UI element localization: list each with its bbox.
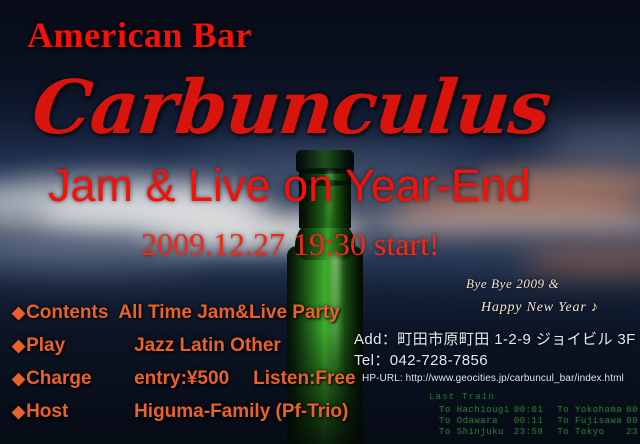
telephone-line: Tel：042-728-7856 — [354, 350, 636, 371]
flyer-poster: American Bar Carbunculus Jam & Live on Y… — [0, 0, 640, 444]
last-train-block: Last Train To Hachiougi 00:01 To Yokoham… — [429, 392, 640, 438]
last-train-time: 00:01 — [514, 405, 558, 416]
greeting-happy-new-year: Happy New Year ♪ — [481, 300, 599, 316]
event-date-time: 2009.12.27 19:30 start! — [141, 226, 440, 263]
last-train-time: 23:59 — [626, 427, 640, 438]
last-train-time: 00:06 — [626, 405, 640, 416]
address-line: Add：町田市原町田 1-2-9 ジョイビル 3F — [354, 329, 636, 350]
detail-label-play: Play — [26, 335, 134, 357]
detail-value-charge-listen: Listen:Free — [253, 368, 355, 390]
detail-row-host: ◆ Host Higuma-Family (Pf-Trio) — [12, 395, 362, 428]
detail-row-charge: ◆ Charge entry:¥500 Listen:Free — [12, 362, 362, 395]
table-row: To Hachiougi 00:01 To Yokohama 00:06 — [439, 405, 640, 416]
diamond-bullet-icon: ◆ — [12, 337, 25, 354]
last-train-time: 23:59 — [514, 427, 558, 438]
detail-row-contents: ◆ Contents All Time Jam&Live Party — [12, 296, 362, 329]
detail-label-host: Host — [26, 401, 134, 423]
detail-value-host: Higuma-Family (Pf-Trio) — [134, 401, 348, 423]
last-train-time: 00:11 — [514, 416, 558, 427]
detail-value-charge-entry: entry:¥500 — [134, 368, 229, 390]
homepage-url[interactable]: HP-URL: http://www.geocities.jp/carbuncu… — [362, 373, 636, 384]
detail-value-contents: All Time Jam&Live Party — [118, 302, 339, 324]
detail-label-charge: Charge — [26, 368, 134, 390]
last-train-table: To Hachiougi 00:01 To Yokohama 00:06 To … — [439, 405, 640, 438]
last-train-dest: To Yokohama — [557, 405, 626, 416]
last-train-dest: To Shinjuku — [439, 427, 514, 438]
greeting-bye-bye: Bye Bye 2009 & — [466, 276, 559, 292]
table-row: To Odawara 00:11 To Fujisawa 00:11 — [439, 416, 640, 427]
detail-label-contents: Contents — [26, 302, 108, 324]
diamond-bullet-icon: ◆ — [12, 370, 25, 387]
contact-info-block: Add：町田市原町田 1-2-9 ジョイビル 3F Tel：042-728-78… — [354, 329, 636, 384]
detail-row-play: ◆ Play Jazz Latin Other — [12, 329, 362, 362]
tagline-american-bar: American Bar — [27, 14, 252, 56]
event-title: Jam & Live on Year-End — [48, 160, 531, 212]
last-train-dest: To Hachiougi — [439, 405, 514, 416]
diamond-bullet-icon: ◆ — [12, 304, 25, 321]
last-train-time: 00:11 — [626, 416, 640, 427]
last-train-title: Last Train — [429, 392, 640, 402]
details-list: ◆ Contents All Time Jam&Live Party ◆ Pla… — [12, 296, 362, 428]
last-train-dest: To Tokyo — [557, 427, 626, 438]
diamond-bullet-icon: ◆ — [12, 403, 25, 420]
last-train-dest: To Odawara — [439, 416, 514, 427]
table-row: To Shinjuku 23:59 To Tokyo 23:59 — [439, 427, 640, 438]
last-train-dest: To Fujisawa — [557, 416, 626, 427]
venue-name-carbunculus: Carbunculus — [28, 65, 554, 151]
detail-value-play: Jazz Latin Other — [134, 335, 281, 357]
